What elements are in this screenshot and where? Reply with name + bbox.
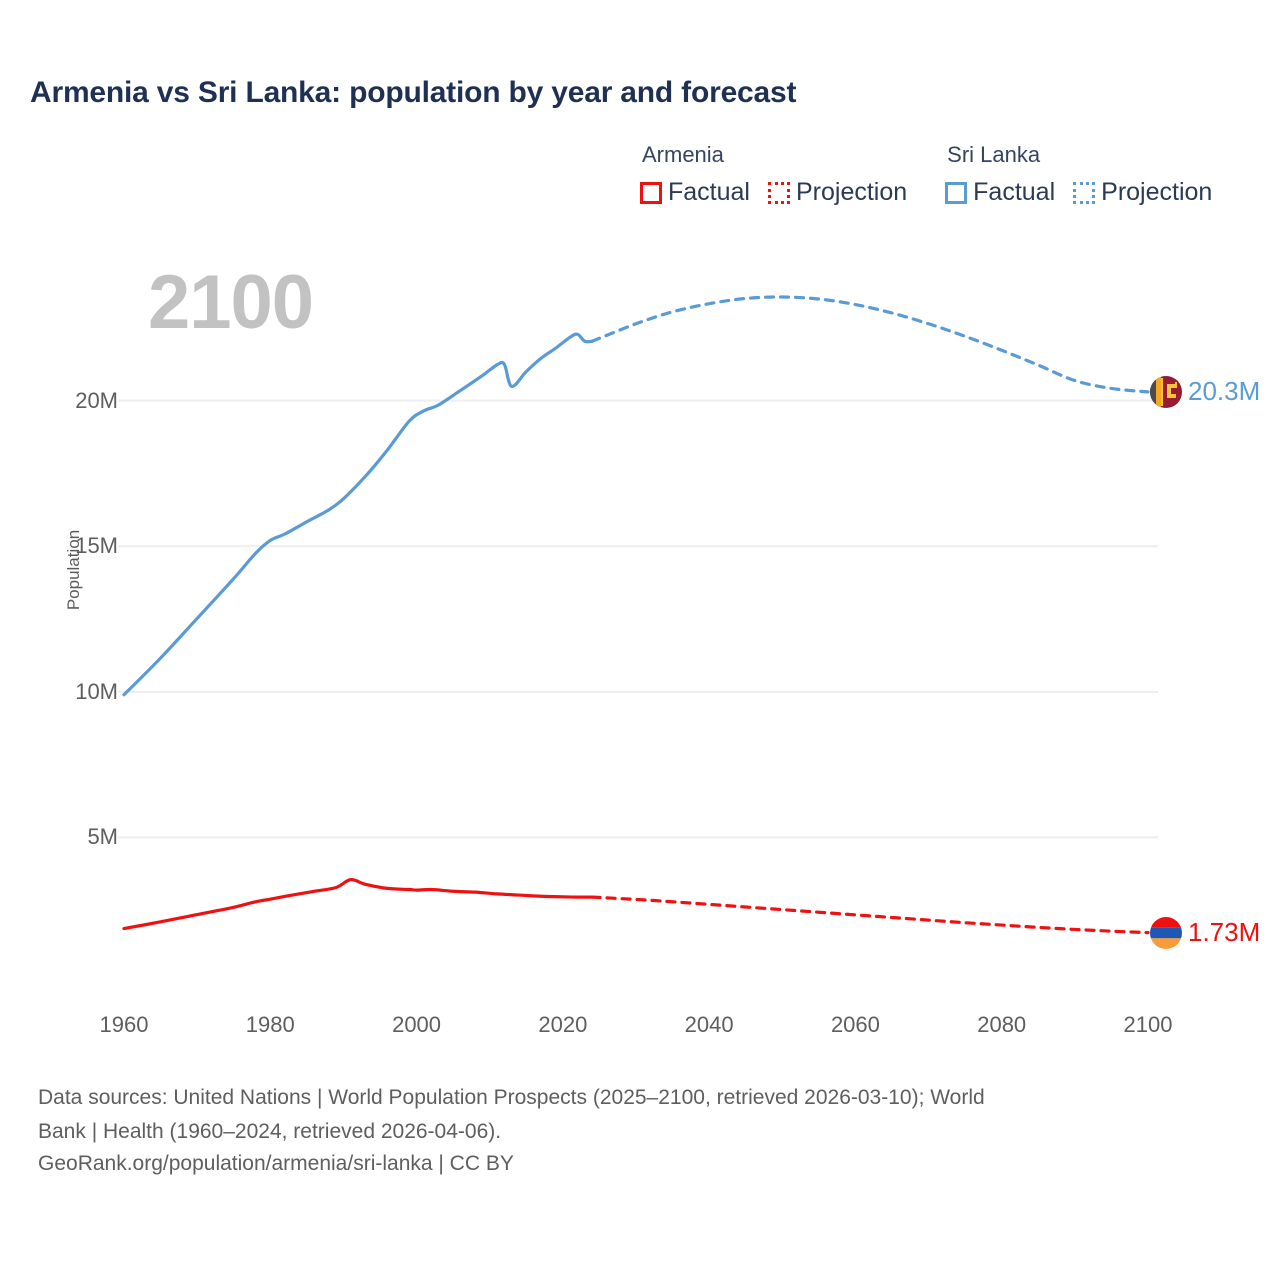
chart-container: Armenia vs Sri Lanka: population by year… (0, 0, 1280, 1280)
sri-lanka-flag-icon (1150, 376, 1182, 408)
x-tick-label: 2080 (942, 1012, 1062, 1038)
x-tick-label: 2060 (795, 1012, 915, 1038)
x-tick-label: 2040 (649, 1012, 769, 1038)
x-tick-label: 2020 (503, 1012, 623, 1038)
footer-line-2: Bank | Health (1960–2024, retrieved 2026… (38, 1116, 1238, 1148)
y-tick-label: 20M (18, 388, 118, 414)
end-label-sri-lanka: 20.3M (1150, 376, 1260, 408)
y-tick-label: 10M (18, 679, 118, 705)
x-tick-label: 2000 (357, 1012, 477, 1038)
x-tick-label: 2100 (1088, 1012, 1208, 1038)
end-label-armenia: 1.73M (1150, 917, 1260, 949)
y-tick-label: 15M (18, 533, 118, 559)
y-tick-label: 5M (18, 824, 118, 850)
footer-sources: Data sources: United Nations | World Pop… (38, 1082, 1238, 1180)
end-label-value: 1.73M (1188, 917, 1260, 948)
x-tick-label: 1960 (64, 1012, 184, 1038)
end-label-value: 20.3M (1188, 376, 1260, 407)
x-tick-label: 1980 (210, 1012, 330, 1038)
armenia-flag-icon (1150, 917, 1182, 949)
footer-line-1: Data sources: United Nations | World Pop… (38, 1082, 1238, 1114)
footer-line-3[interactable]: GeoRank.org/population/armenia/sri-lanka… (38, 1148, 1238, 1180)
